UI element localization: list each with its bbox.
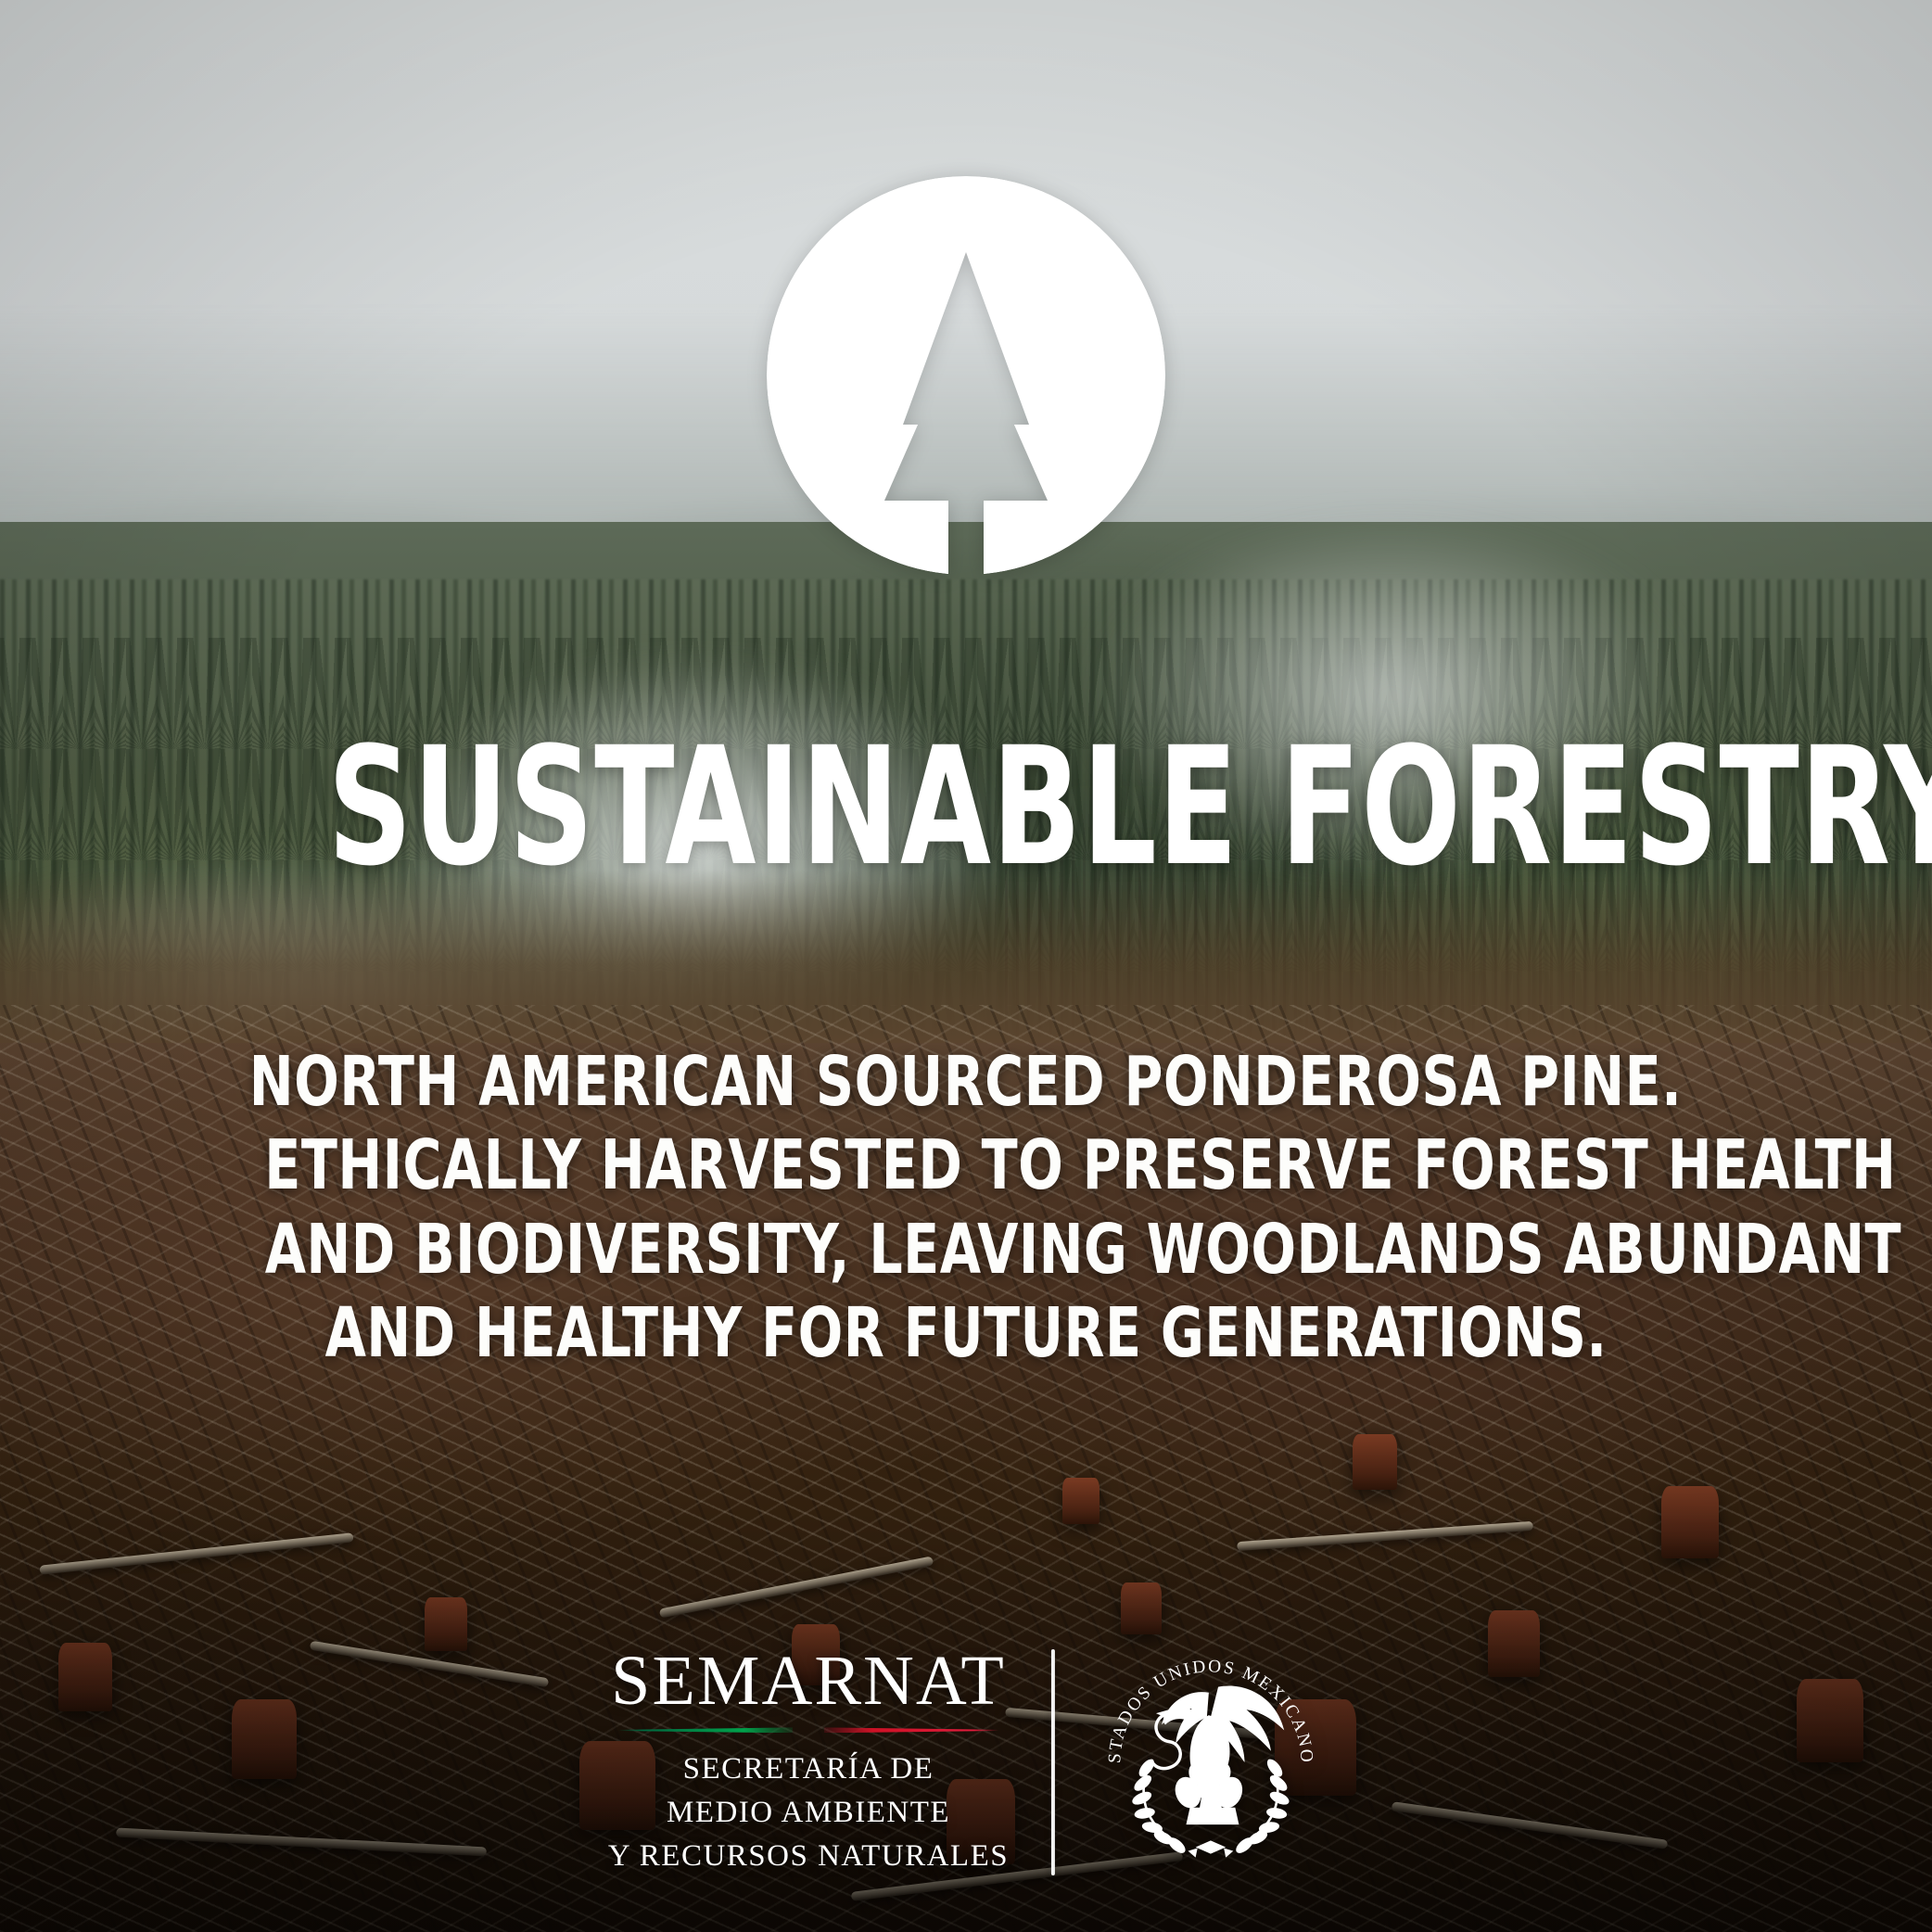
tricolor-green-bar xyxy=(618,1727,793,1733)
tricolor-red-bar xyxy=(824,1727,998,1733)
mexican-tricolor-rule xyxy=(618,1727,998,1733)
body-line-2: ETHICALLY HARVESTED TO PRESERVE FOREST H… xyxy=(132,1124,1800,1207)
footer-logo-lockup: SEMARNAT SECRETARÍA DE MEDIO AMBIENTE Y … xyxy=(608,1646,1324,1878)
sustainable-forestry-poster: SUSTAINABLE FORESTRY NORTH AMERICAN SOUR… xyxy=(0,0,1932,1932)
body-line-3: AND BIODIVERSITY, LEAVING WOODLANDS ABUN… xyxy=(132,1208,1800,1291)
pine-tree-in-circle-logo xyxy=(767,176,1165,589)
page-title: SUSTAINABLE FORESTRY xyxy=(122,732,1810,883)
headline-text: SUSTAINABLE FORESTRY xyxy=(327,732,1932,883)
footer-divider xyxy=(1051,1649,1055,1875)
semarnat-subtitle-line-2: MEDIO AMBIENTE xyxy=(608,1791,1009,1835)
semarnat-subtitle-line-3: Y RECURSOS NATURALES xyxy=(608,1835,1009,1878)
body-line-4: AND HEALTHY FOR FUTURE GENERATIONS. xyxy=(132,1291,1800,1375)
poster-content: SUSTAINABLE FORESTRY NORTH AMERICAN SOUR… xyxy=(0,0,1932,1932)
semarnat-logo: SEMARNAT SECRETARÍA DE MEDIO AMBIENTE Y … xyxy=(608,1646,1051,1878)
body-line-1: NORTH AMERICAN SOURCED PONDEROSA PINE. xyxy=(132,1040,1800,1124)
semarnat-subtitle-line-1: SECRETARÍA DE xyxy=(608,1748,1009,1791)
semarnat-subtitle: SECRETARÍA DE MEDIO AMBIENTE Y RECURSOS … xyxy=(608,1748,1009,1878)
tricolor-white-gap xyxy=(793,1727,824,1733)
body-copy: NORTH AMERICAN SOURCED PONDEROSA PINE. E… xyxy=(132,1040,1800,1375)
semarnat-wordmark: SEMARNAT xyxy=(611,1646,1006,1716)
mexican-coat-of-arms-seal: ESTADOS UNIDOS MEXICANOS xyxy=(1098,1649,1324,1875)
